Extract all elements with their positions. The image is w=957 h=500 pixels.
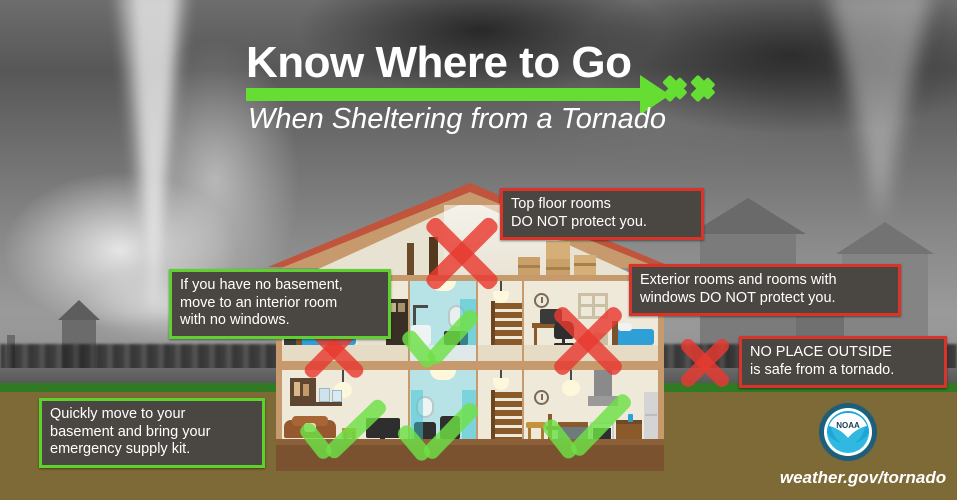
storage-box-tape — [546, 267, 570, 270]
callout-no-place-outside: NO PLACE OUTSIDE is safe from a tornado. — [739, 336, 947, 388]
callout-line: move to an interior room — [180, 295, 380, 313]
stair-step — [494, 419, 522, 425]
callout-line: If you have no basement, — [180, 277, 380, 295]
picture-frame — [319, 388, 330, 402]
stair-step — [494, 428, 522, 434]
attic-pipe — [407, 243, 414, 278]
desk-leg — [534, 328, 537, 345]
stair-step — [494, 303, 522, 309]
callout-line: emergency supply kit. — [50, 441, 254, 459]
refrigerator — [644, 392, 658, 442]
chevron-right-icon — [694, 68, 724, 108]
green-check-icon-lower-kitchen — [536, 395, 628, 471]
callout-line: DO NOT protect you. — [511, 214, 693, 232]
stair-step — [494, 410, 522, 416]
tornado-funnel-right-icon — [828, 0, 932, 220]
callout-line: Quickly move to your — [50, 406, 254, 424]
green-check-icon-lower-bathroom — [394, 405, 476, 475]
noaa-logo-text: NOAA — [836, 421, 860, 430]
green-check-icon-lower-livingroom — [296, 401, 388, 471]
callout-top-floor: Top floor rooms DO NOT protect you. — [500, 188, 704, 240]
green-check-icon-upper-bathroom — [394, 303, 474, 383]
stair-rail — [491, 301, 495, 345]
pendant-lamp-icon — [493, 378, 509, 390]
callout-basement-kit: Quickly move to your basement and bring … — [39, 398, 265, 468]
stair-rail — [491, 390, 495, 442]
stair-step — [494, 392, 522, 398]
callout-line: is safe from a tornado. — [750, 362, 936, 380]
callout-exterior-rooms: Exterior rooms and rooms with windows DO… — [629, 264, 901, 316]
callout-line: basement and bring your — [50, 424, 254, 442]
fridge-divider — [645, 414, 657, 416]
background-silo-roof — [58, 300, 100, 320]
callout-line: Top floor rooms — [511, 196, 693, 214]
floor — [478, 345, 522, 361]
storage-box — [546, 241, 570, 259]
shelf-item — [303, 384, 309, 396]
noaa-seal-icon: NOAA — [818, 402, 878, 462]
red-x-icon-upper-office — [546, 297, 630, 381]
background-barn-roof — [690, 198, 806, 234]
title-arrow-bar — [246, 88, 650, 101]
storage-box-tape — [574, 263, 596, 266]
stair-step — [494, 401, 522, 407]
callout-line: with no windows. — [180, 312, 380, 330]
callout-line: windows DO NOT protect you. — [640, 290, 890, 308]
chevron-right-icon — [666, 68, 696, 108]
stairwell-upper — [478, 281, 522, 361]
callout-line: Exterior rooms and rooms with — [640, 272, 890, 290]
callout-no-basement: If you have no basement, move to an inte… — [169, 269, 391, 339]
website-url: weather.gov/tornado — [773, 468, 953, 488]
callout-line: NO PLACE OUTSIDE — [750, 344, 936, 362]
stair-step — [494, 330, 522, 336]
bottle — [628, 414, 633, 422]
red-x-icon-outside — [676, 334, 734, 392]
stair-step — [494, 312, 522, 318]
pendant-lamp-icon — [562, 380, 580, 396]
stair-step — [494, 321, 522, 327]
shelf-item — [294, 382, 300, 396]
infographic-canvas: Know Where to Go When Sheltering from a … — [0, 0, 957, 500]
storage-box-tape — [518, 265, 540, 268]
background-silo-large-roof — [836, 222, 934, 254]
red-x-icon-attic — [418, 205, 506, 293]
page-subtitle: When Sheltering from a Tornado — [248, 103, 666, 136]
